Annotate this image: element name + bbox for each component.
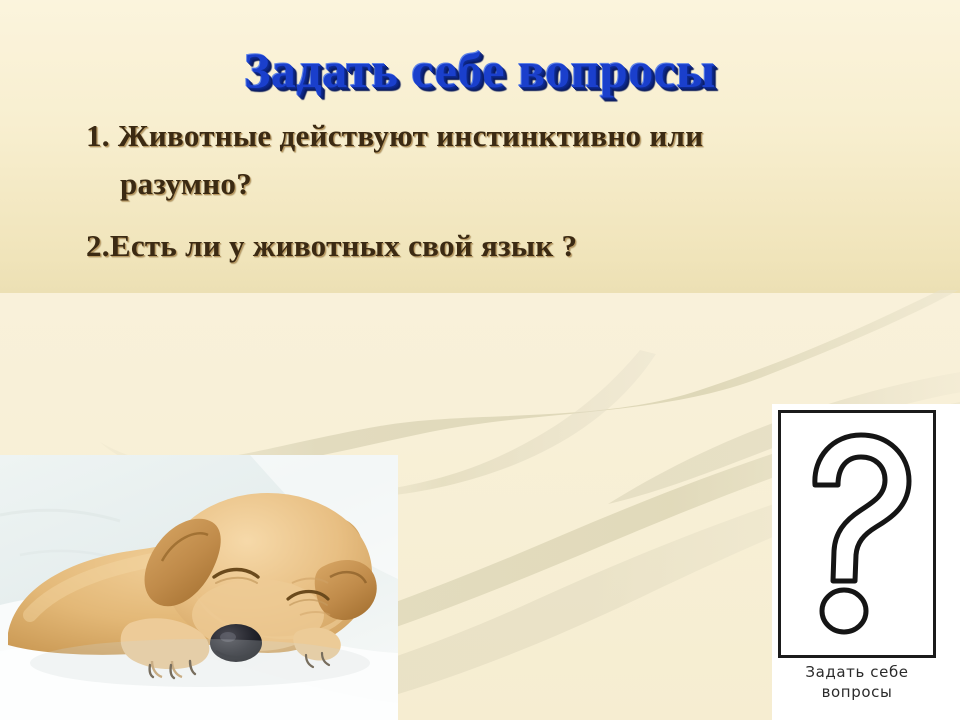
clipart-caption: Задать себе вопросы (778, 662, 936, 702)
question-mark-icon (781, 413, 933, 655)
sleeping-puppy-photo (0, 455, 398, 720)
question-1-line-1: 1. Животные действуют инстинктивно или (86, 112, 916, 160)
clipart-caption-line-2: вопросы (778, 682, 936, 702)
clipart-frame (778, 410, 936, 658)
slide: Задать себе вопросы 1. Животные действую… (0, 0, 960, 720)
slide-title: Задать себе вопросы (0, 42, 960, 98)
clipart-caption-line-1: Задать себе (778, 662, 936, 682)
question-2-line-1: 2.Есть ли у животных свой язык ? (86, 208, 916, 270)
question-1-line-2: разумно? (86, 160, 916, 208)
question-list: 1. Животные действуют инстинктивно или р… (86, 112, 916, 270)
question-mark-clipart-panel: Задать себе вопросы (772, 404, 960, 720)
